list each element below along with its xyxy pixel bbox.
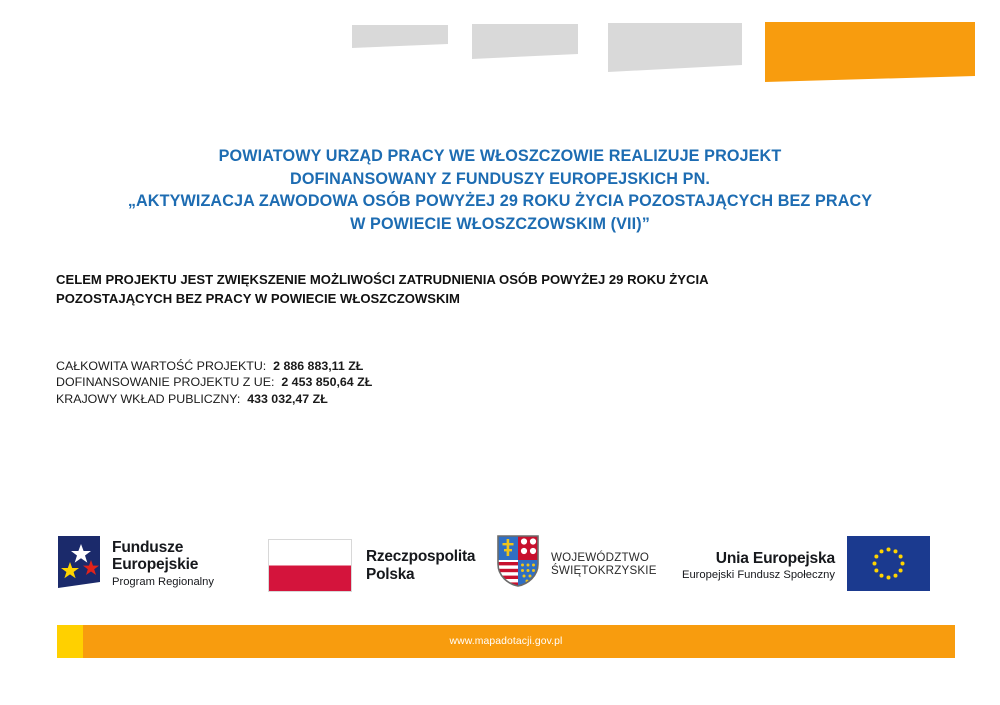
finance-label-total: CAŁKOWITA WARTOŚĆ PROJEKTU: (56, 359, 273, 373)
headline-line-4: W POWIECIE WŁOSZCZOWSKIM (VII)” (0, 213, 1000, 236)
finance-row-total: CAŁKOWITA WARTOŚĆ PROJEKTU: 2 886 883,11… (56, 358, 576, 374)
rp-line-2: Polska (366, 566, 475, 583)
ue-line-1: Unia Europejska (682, 550, 835, 567)
finance-value-total: 2 886 883,11 ZŁ (273, 359, 363, 373)
project-poster: POWIATOWY URZĄD PRACY WE WŁOSZCZOWIE REA… (0, 0, 1000, 705)
ue-line-2: Europejski Fundusz Społeczny (682, 569, 835, 582)
objective-line-2: POZOSTAJĄCYCH BEZ PRACY W POWIECIE WŁOSZ… (56, 290, 916, 309)
ws-line-1: WOJEWÓDZTWO (551, 551, 657, 564)
finance-value-national: 433 032,47 ZŁ (247, 392, 328, 406)
mapadotacji-url[interactable]: www.mapadotacji.gov.pl (57, 625, 955, 658)
ribbon-bar-1 (352, 25, 448, 48)
headline-line-3: „AKTYWIZACJA ZAWODOWA OSÓB POWYŻEJ 29 RO… (0, 190, 1000, 213)
swietokrzyskie-coat-of-arms-icon (496, 534, 540, 593)
logo-wojewodztwo-swietokrzyskie: WOJEWÓDZTWO ŚWIĘTOKRZYSKIE (496, 534, 657, 593)
ribbon-bar-4 (765, 22, 975, 82)
rp-line-1: Rzeczpospolita (366, 548, 475, 565)
top-decorative-ribbon (0, 0, 1000, 95)
finance-label-national: KRAJOWY WKŁAD PUBLICZNY: (56, 392, 247, 406)
fe-line-3: Program Regionalny (112, 576, 214, 589)
headline-line-1: POWIATOWY URZĄD PRACY WE WŁOSZCZOWIE REA… (0, 145, 1000, 168)
fundusze-europejskie-label: Fundusze Europejskie Program Regionalny (112, 539, 214, 588)
headline-line-2: DOFINANSOWANY Z FUNDUSZY EUROPEJSKICH PN… (0, 168, 1000, 191)
ribbon-bar-2 (472, 24, 578, 59)
ws-line-2: ŚWIĘTOKRZYSKIE (551, 564, 657, 577)
european-union-flag-icon (847, 536, 930, 596)
logo-fundusze-europejskie: Fundusze Europejskie Program Regionalny (56, 532, 214, 595)
wojewodztwo-swietokrzyskie-label: WOJEWÓDZTWO ŚWIĘTOKRZYSKIE (551, 551, 657, 577)
fundusze-europejskie-stars-icon (56, 532, 102, 595)
rzeczpospolita-polska-label: Rzeczpospolita Polska (366, 548, 475, 583)
poland-flag-icon (268, 539, 352, 592)
ribbon-bar-3 (608, 23, 742, 72)
objective-line-1: CELEM PROJEKTU JEST ZWIĘKSZENIE MOŻLIWOŚ… (56, 271, 916, 290)
finance-summary: CAŁKOWITA WARTOŚĆ PROJEKTU: 2 886 883,11… (56, 358, 576, 407)
logo-strip: Fundusze Europejskie Program Regionalny … (0, 528, 1000, 604)
fe-line-1: Fundusze (112, 539, 214, 556)
logo-unia-europejska: Unia Europejska Europejski Fundusz Społe… (682, 536, 930, 596)
bottom-orange-bar: www.mapadotacji.gov.pl (57, 625, 955, 658)
finance-value-eu: 2 453 850,64 ZŁ (281, 375, 372, 389)
project-objective: CELEM PROJEKTU JEST ZWIĘKSZENIE MOŻLIWOŚ… (56, 271, 916, 308)
unia-europejska-label: Unia Europejska Europejski Fundusz Społe… (682, 550, 835, 582)
page-title: POWIATOWY URZĄD PRACY WE WŁOSZCZOWIE REA… (0, 145, 1000, 235)
logo-rzeczpospolita-polska: Rzeczpospolita Polska (268, 539, 475, 592)
finance-label-eu: DOFINANSOWANIE PROJEKTU Z UE: (56, 375, 281, 389)
finance-row-eu: DOFINANSOWANIE PROJEKTU Z UE: 2 453 850,… (56, 374, 576, 390)
finance-row-national: KRAJOWY WKŁAD PUBLICZNY: 433 032,47 ZŁ (56, 391, 576, 407)
fe-line-2: Europejskie (112, 556, 214, 573)
